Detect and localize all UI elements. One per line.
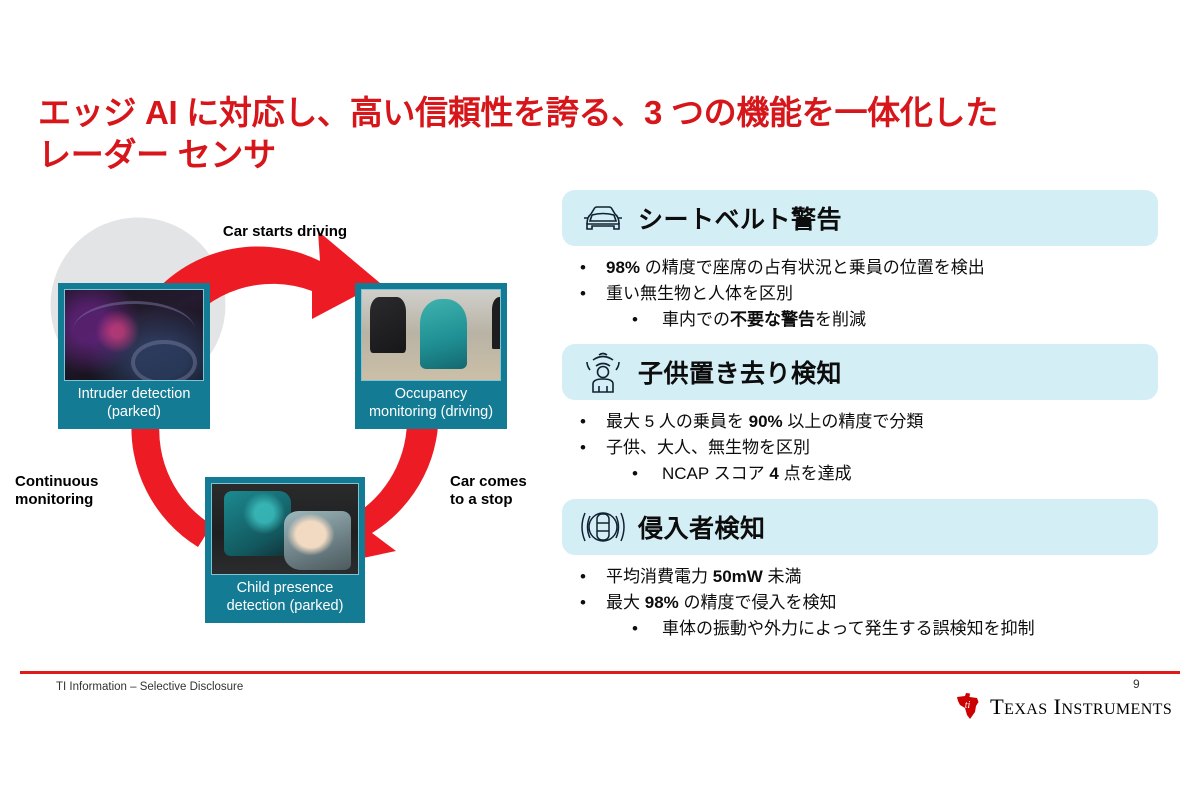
label-line-2: to a stop — [450, 491, 570, 509]
bullet-dot: • — [580, 435, 606, 461]
caption-line-2: (parked) — [66, 404, 202, 422]
page-number: 9 — [1133, 677, 1140, 691]
bullet-line: • 重い無生物と人体を区別 — [580, 281, 1158, 307]
feature-title: 子供置き去り検知 — [638, 354, 842, 390]
bullet-line: • 平均消費電力 50mW 未満 — [580, 564, 1158, 590]
child-presence-photo — [211, 483, 359, 575]
bullet-text: NCAP スコア 4 点を達成 — [662, 461, 852, 487]
label-line-1: Car comes — [450, 473, 570, 491]
cycle-card-occupancy[interactable]: Occupancy monitoring (driving) — [355, 283, 507, 429]
bullet-dot: • — [632, 307, 662, 333]
bullet-text: 最大 98% の精度で侵入を検知 — [606, 590, 837, 616]
bullet-text: 最大 5 人の乗員を 90% 以上の精度で分類 — [606, 409, 923, 435]
label-line-2: monitoring — [15, 491, 155, 509]
page-title: エッジ AI に対応し、高い信頼性を誇る、3 つの機能を一体化した レーダー セ… — [38, 92, 1158, 176]
occupancy-monitoring-photo — [361, 289, 501, 381]
cycle-card-caption: Child presence detection (parked) — [211, 575, 359, 619]
cycle-card-intruder[interactable]: Intruder detection (parked) — [58, 283, 210, 429]
cycle-diagram: Intruder detection (parked) Occupancy mo… — [20, 215, 550, 655]
cycle-label-continuous-monitoring: Continuous monitoring — [15, 473, 155, 510]
bullet-line: • 子供、大人、無生物を区別 — [580, 435, 1158, 461]
cycle-label-car-comes-to-a-stop: Car comes to a stop — [450, 473, 570, 510]
bullet-text: 98% の精度で座席の占有状況と乗員の位置を検出 — [606, 255, 985, 281]
caption-line-1: Occupancy — [363, 386, 499, 404]
texas-state-icon: ti — [956, 693, 981, 720]
ti-logo: ti Texas Instruments — [956, 693, 1172, 720]
person-radar-icon — [580, 350, 626, 394]
bullet-line: • 98% の精度で座席の占有状況と乗員の位置を検出 — [580, 255, 1158, 281]
footer-note: TI Information – Selective Disclosure — [56, 681, 243, 693]
bullet-dot: • — [632, 616, 662, 642]
feature-header[interactable]: シートベルト警告 — [562, 190, 1158, 246]
title-line-1: エッジ AI に対応し、高い信頼性を誇る、3 つの機能を一体化した — [38, 92, 1158, 134]
bullet-text: 平均消費電力 50mW 未満 — [606, 564, 802, 590]
caption-line-2: detection (parked) — [213, 598, 357, 616]
car-front-icon — [580, 196, 626, 240]
bullet-line: • 最大 5 人の乗員を 90% 以上の精度で分類 — [580, 409, 1158, 435]
feature-intruder-detection: 侵入者検知 • 平均消費電力 50mW 未満 • 最大 98% の精度で侵入を検… — [562, 499, 1158, 645]
feature-title: シートベルト警告 — [638, 200, 842, 236]
caption-line-1: Child presence — [213, 580, 357, 598]
cycle-card-caption: Occupancy monitoring (driving) — [361, 381, 501, 425]
bullet-dot: • — [632, 461, 662, 487]
bullet-line-sub: • NCAP スコア 4 点を達成 — [580, 461, 1158, 487]
feature-child-presence-detection: 子供置き去り検知 • 最大 5 人の乗員を 90% 以上の精度で分類 • 子供、… — [562, 344, 1158, 490]
cycle-card-caption: Intruder detection (parked) — [64, 381, 204, 425]
bullet-text: 子供、大人、無生物を区別 — [606, 435, 810, 461]
bullet-dot: • — [580, 564, 606, 590]
feature-bullets: • 98% の精度で座席の占有状況と乗員の位置を検出 • 重い無生物と人体を区別… — [562, 246, 1158, 336]
feature-header[interactable]: 侵入者検知 — [562, 499, 1158, 555]
footer-divider — [20, 671, 1180, 674]
bullet-line-sub: • 車内での不要な警告を削減 — [580, 307, 1158, 333]
cycle-label-car-starts-driving: Car starts driving — [185, 223, 385, 241]
feature-seatbelt-warning: シートベルト警告 • 98% の精度で座席の占有状況と乗員の位置を検出 • 重い… — [562, 190, 1158, 336]
slide: エッジ AI に対応し、高い信頼性を誇る、3 つの機能を一体化した レーダー セ… — [0, 0, 1200, 800]
bullet-dot: • — [580, 590, 606, 616]
ti-wordmark: Texas Instruments — [990, 694, 1172, 720]
bullet-line: • 最大 98% の精度で侵入を検知 — [580, 590, 1158, 616]
bullet-dot: • — [580, 409, 606, 435]
bullet-text: 重い無生物と人体を区別 — [606, 281, 793, 307]
caption-line-2: monitoring (driving) — [363, 404, 499, 422]
bullet-dot: • — [580, 255, 606, 281]
label-line-1: Continuous — [15, 473, 155, 491]
feature-header[interactable]: 子供置き去り検知 — [562, 344, 1158, 400]
feature-title: 侵入者検知 — [638, 509, 766, 545]
bullet-text: 車体の振動や外力によって発生する誤検知を抑制 — [662, 616, 1035, 642]
svg-text:ti: ti — [965, 700, 971, 711]
cycle-card-child-presence[interactable]: Child presence detection (parked) — [205, 477, 365, 623]
bullet-text: 車内での不要な警告を削減 — [662, 307, 866, 333]
bullet-dot: • — [580, 281, 606, 307]
feature-list: シートベルト警告 • 98% の精度で座席の占有状況と乗員の位置を検出 • 重い… — [562, 190, 1158, 653]
car-top-radar-icon — [580, 505, 626, 549]
feature-bullets: • 最大 5 人の乗員を 90% 以上の精度で分類 • 子供、大人、無生物を区別… — [562, 400, 1158, 490]
caption-line-1: Intruder detection — [66, 386, 202, 404]
bullet-line-sub: • 車体の振動や外力によって発生する誤検知を抑制 — [580, 616, 1158, 642]
intruder-detection-photo — [64, 289, 204, 381]
feature-bullets: • 平均消費電力 50mW 未満 • 最大 98% の精度で侵入を検知 • 車体… — [562, 555, 1158, 645]
title-line-2: レーダー センサ — [38, 134, 1158, 176]
